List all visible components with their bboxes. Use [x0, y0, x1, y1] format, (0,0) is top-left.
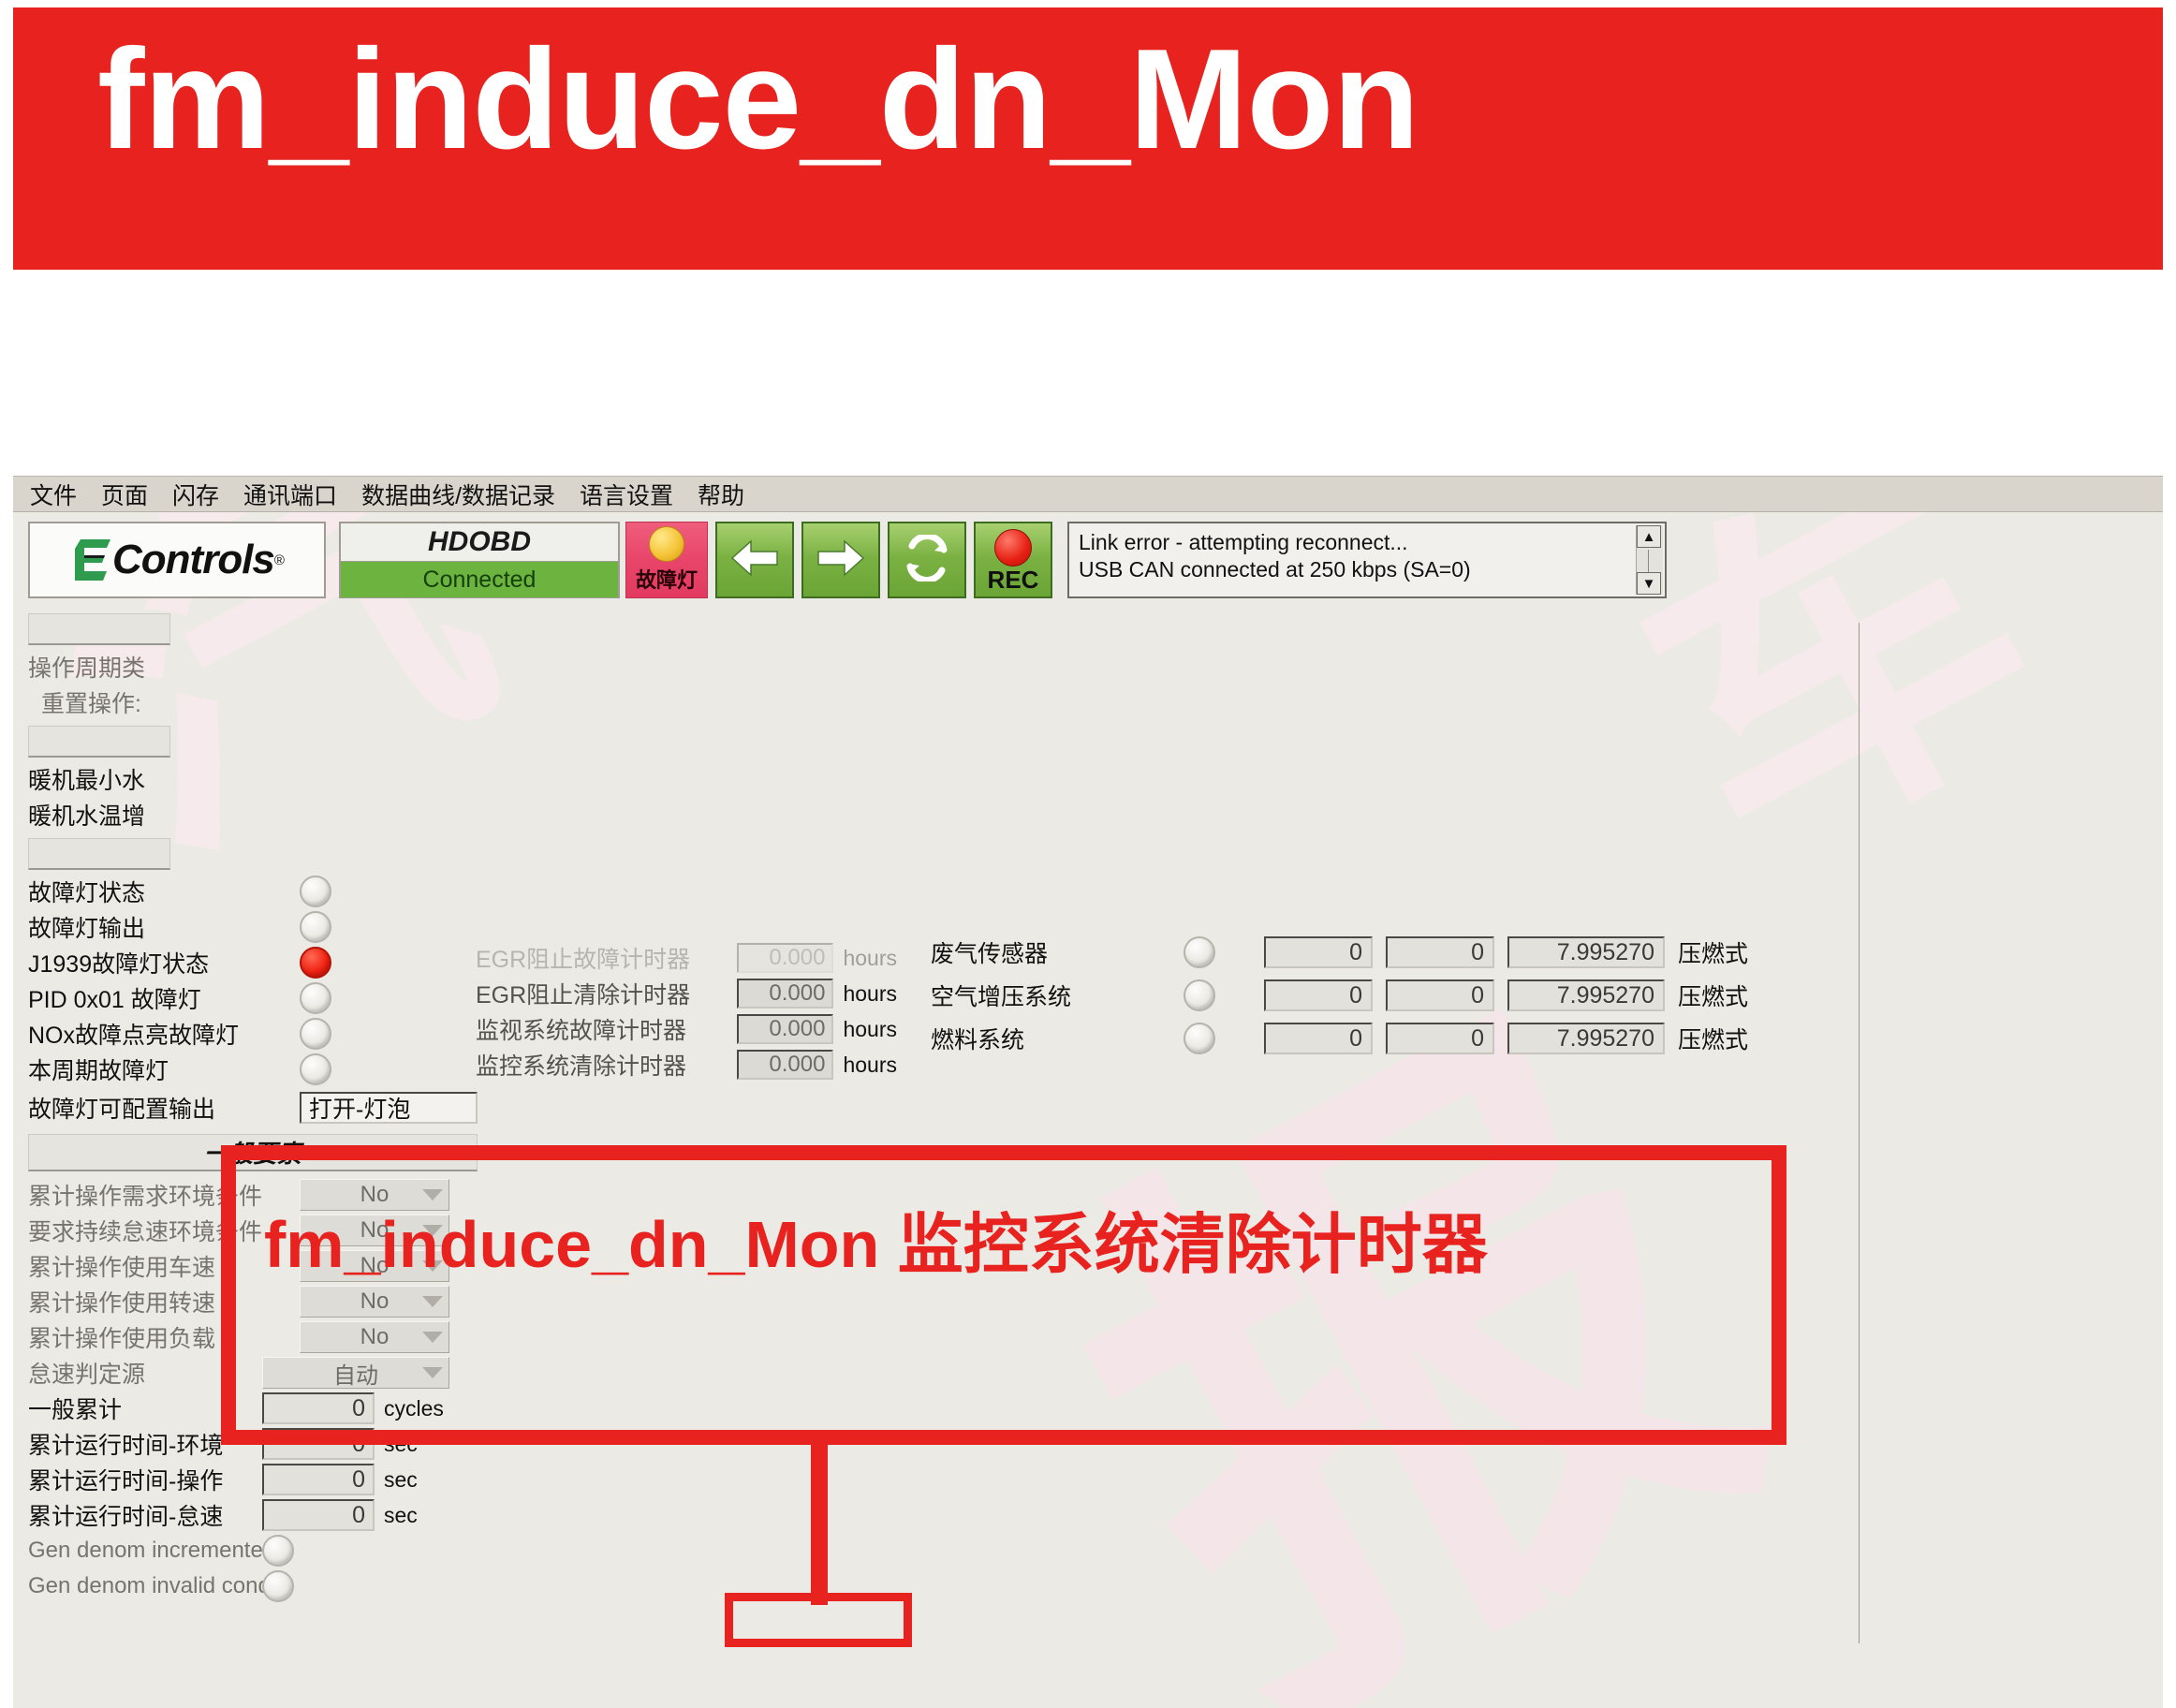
label-monitor-system-clear-timer: 监控系统清除计时器	[476, 1048, 737, 1082]
list-item: 故障灯可配置输出 打开-灯泡	[28, 1087, 478, 1128]
list-item: 累计运行时间-操作 0 sec	[28, 1462, 478, 1497]
menu-item-datalog[interactable]: 数据曲线/数据记录	[361, 478, 555, 511]
menu-item-file[interactable]: 文件	[30, 478, 77, 511]
led-gen-denom-invalid-icon	[262, 1570, 294, 1602]
list-item: NOx故障点亮故障灯	[28, 1016, 478, 1052]
connection-state-label: Connected	[341, 561, 618, 597]
label-reset-operation: 重置操作:	[41, 685, 141, 719]
label-air-boost-system: 空气增压系统	[931, 979, 1184, 1012]
led-air-boost-system-icon	[1184, 979, 1215, 1011]
annotation-callout-text: fm_induce_dn_Mon 监控系统清除计时器	[264, 1198, 1743, 1293]
value-exhaust-denominator[interactable]: 0	[1386, 936, 1494, 968]
unit-hours-4: hours	[843, 1053, 897, 1078]
list-item: 本周期故障灯	[28, 1052, 478, 1087]
timer-panel: EGR阻止故障计时器 0.000 hours EGR阻止清除计时器 0.000 …	[476, 608, 897, 1082]
group-separator-3	[28, 838, 170, 870]
connection-status-panel: HDOBD Connected	[339, 522, 620, 598]
label-egr-inhibit-fault-timer: EGR阻止故障计时器	[476, 941, 737, 975]
value-cum-runtime-operation[interactable]: 0	[262, 1464, 375, 1495]
menu-item-flash[interactable]: 闪存	[172, 478, 219, 511]
value-egr-inhibit-clear-timer[interactable]: 0.000	[737, 979, 833, 1009]
value-boost-ratio[interactable]: 7.995270	[1507, 979, 1665, 1011]
label-fuel-system: 燃料系统	[931, 1022, 1184, 1055]
label-cum-runtime-idle: 累计运行时间-怠速	[28, 1498, 262, 1532]
menu-item-help[interactable]: 帮助	[698, 478, 744, 511]
status-log[interactable]: Link error - attempting reconnect... USB…	[1067, 522, 1667, 598]
label-mil-status: 故障灯状态	[28, 875, 300, 908]
led-fuel-system-icon	[1184, 1023, 1215, 1054]
status-line-2: USB CAN connected at 250 kbps (SA=0)	[1079, 556, 1655, 583]
led-gen-denom-incremented-icon	[262, 1535, 294, 1567]
value-egr-inhibit-fault-timer[interactable]: 0.000	[737, 943, 833, 973]
logo-e-icon	[69, 537, 110, 582]
panel-divider	[1859, 623, 1860, 1643]
unit-hours-3: hours	[843, 1017, 897, 1042]
label-cum-runtime-operation: 累计运行时间-操作	[28, 1463, 262, 1496]
label-exhaust-gas-sensor: 废气传感器	[931, 935, 1184, 969]
menu-bar: 文件 页面 闪存 通讯端口 数据曲线/数据记录 语言设置 帮助	[13, 477, 2163, 512]
record-dot-icon	[994, 529, 1032, 567]
application-window: 报 汽 车 文件 页面 闪存 通讯端口 数据曲线/数据记录 语言设置 帮助 Co…	[13, 476, 2163, 1708]
value-monitor-system-fault-timer[interactable]: 0.000	[737, 1014, 833, 1044]
label-operating-cycle-type: 操作周期类	[28, 650, 145, 684]
value-exhaust-numerator[interactable]: 0	[1264, 936, 1373, 968]
annotation-callout-box	[221, 1145, 1786, 1445]
led-pid0x01-mil-icon	[300, 982, 331, 1014]
refresh-icon	[903, 535, 951, 586]
unit-hours-1: hours	[843, 946, 897, 971]
monitor-ratio-panel: 废气传感器 0 0 7.995270 压燃式 空气增压系统 0 0 7.9952…	[931, 608, 1848, 1060]
table-row: 空气增压系统 0 0 7.995270 压燃式	[931, 974, 1848, 1017]
table-row: 废气传感器 0 0 7.995270 压燃式	[931, 931, 1848, 974]
label-gen-denom-incremented: Gen denom incremented	[28, 1538, 262, 1564]
group-separator-1	[28, 613, 170, 645]
label-warmup-coolant-rise: 暖机水温增	[28, 798, 145, 832]
annotation-target-highlight	[725, 1593, 912, 1647]
list-item: EGR阻止清除计时器 0.000 hours	[476, 976, 897, 1011]
list-item: 累计运行时间-怠速 0 sec	[28, 1497, 478, 1533]
value-fuel-ratio[interactable]: 7.995270	[1507, 1023, 1665, 1054]
label-mil-configurable-output: 故障灯可配置输出	[28, 1091, 300, 1125]
lamp-icon	[649, 526, 684, 562]
menu-item-page[interactable]: 页面	[101, 478, 148, 511]
led-exhaust-gas-sensor-icon	[1184, 936, 1215, 968]
logo-registered-mark: ®	[274, 552, 285, 568]
status-line-1: Link error - attempting reconnect...	[1079, 529, 1655, 556]
list-item: PID 0x01 故障灯	[28, 980, 478, 1016]
unit-hours-2: hours	[843, 981, 897, 1007]
menu-item-language[interactable]: 语言设置	[580, 478, 673, 511]
list-item: Gen denom incremented	[28, 1533, 478, 1568]
led-j1939-mil-icon	[300, 947, 331, 979]
unit-sec-3: sec	[384, 1503, 418, 1528]
value-exhaust-ratio[interactable]: 7.995270	[1507, 936, 1665, 968]
logo-wordmark: Controls	[112, 537, 274, 583]
label-boost-ignition-type: 压燃式	[1678, 979, 1748, 1012]
toolbar: Controls ® HDOBD Connected 故障灯	[13, 512, 2163, 606]
scroll-up-icon[interactable]: ▲	[1637, 525, 1661, 548]
econtrols-logo: Controls ®	[28, 522, 326, 598]
label-this-cycle-mil: 本周期故障灯	[28, 1053, 300, 1086]
protocol-label: HDOBD	[341, 523, 618, 561]
list-item: 暖机水温增	[28, 797, 478, 832]
label-j1939-mil-status: J1939故障灯状态	[28, 946, 300, 979]
label-pid0x01-mil: PID 0x01 故障灯	[28, 981, 300, 1015]
unit-sec-2: sec	[384, 1467, 418, 1493]
back-button[interactable]	[715, 522, 794, 598]
label-fuel-ignition-type: 压燃式	[1678, 1022, 1748, 1055]
left-parameter-panel: 操作周期类 重置操作: 暖机最小水 暖机水温增 故障灯状态 故障灯输出 J193…	[28, 608, 478, 1604]
list-item: Gen denom invalid cond	[28, 1568, 478, 1604]
value-boost-numerator[interactable]: 0	[1264, 979, 1373, 1011]
mil-button-label: 故障灯	[636, 564, 698, 594]
list-item: EGR阻止故障计时器 0.000 hours	[476, 940, 897, 976]
value-monitor-system-clear-timer[interactable]: 0.000	[737, 1050, 833, 1080]
scroll-down-icon[interactable]: ▼	[1637, 572, 1661, 595]
list-item: 暖机最小水	[28, 761, 478, 797]
title-banner: fm_induce_dn_Mon	[13, 7, 2163, 270]
value-fuel-numerator[interactable]: 0	[1264, 1023, 1373, 1054]
label-monitor-system-fault-timer: 监视系统故障计时器	[476, 1012, 737, 1046]
list-item: 故障灯输出	[28, 909, 478, 945]
value-cum-runtime-idle[interactable]: 0	[262, 1499, 375, 1531]
menu-item-comport[interactable]: 通讯端口	[243, 478, 337, 511]
label-egr-inhibit-clear-timer: EGR阻止清除计时器	[476, 977, 737, 1010]
led-this-cycle-mil-icon	[300, 1053, 331, 1085]
arrow-right-icon	[816, 537, 865, 583]
label-warmup-min-coolant: 暖机最小水	[28, 762, 145, 796]
value-fuel-denominator[interactable]: 0	[1386, 1023, 1494, 1054]
list-item: 监视系统故障计时器 0.000 hours	[476, 1011, 897, 1047]
led-mil-output-icon	[300, 911, 331, 943]
label-mil-output: 故障灯输出	[28, 910, 300, 944]
list-item: 操作周期类	[28, 649, 478, 685]
mil-configurable-output-value[interactable]: 打开-灯泡	[300, 1092, 478, 1124]
value-boost-denominator[interactable]: 0	[1386, 979, 1494, 1011]
label-exhaust-ignition-type: 压燃式	[1678, 935, 1748, 969]
table-row: 燃料系统 0 0 7.995270 压燃式	[931, 1017, 1848, 1060]
annotation-connector-line	[811, 1441, 828, 1605]
mil-indicator-button[interactable]: 故障灯	[625, 522, 708, 598]
refresh-button[interactable]	[888, 522, 966, 598]
led-mil-status-icon	[300, 876, 331, 907]
arrow-left-icon	[730, 537, 779, 583]
record-button-label: REC	[988, 567, 1039, 592]
list-item: 监控系统清除计时器 0.000 hours	[476, 1047, 897, 1082]
label-gen-denom-invalid-cond: Gen denom invalid cond	[28, 1573, 262, 1599]
list-item: 故障灯状态	[28, 874, 478, 909]
scrollbar-track[interactable]	[1648, 550, 1649, 572]
group-separator-2	[28, 726, 170, 758]
status-log-scrollbar[interactable]: ▲ ▼	[1636, 525, 1663, 595]
led-nox-mil-icon	[300, 1018, 331, 1050]
forward-button[interactable]	[801, 522, 880, 598]
record-button[interactable]: REC	[974, 522, 1052, 598]
label-nox-mil: NOx故障点亮故障灯	[28, 1017, 300, 1051]
list-item: J1939故障灯状态	[28, 945, 478, 980]
list-item: 重置操作:	[28, 685, 478, 720]
page-title: fm_induce_dn_Mon	[97, 28, 1419, 170]
